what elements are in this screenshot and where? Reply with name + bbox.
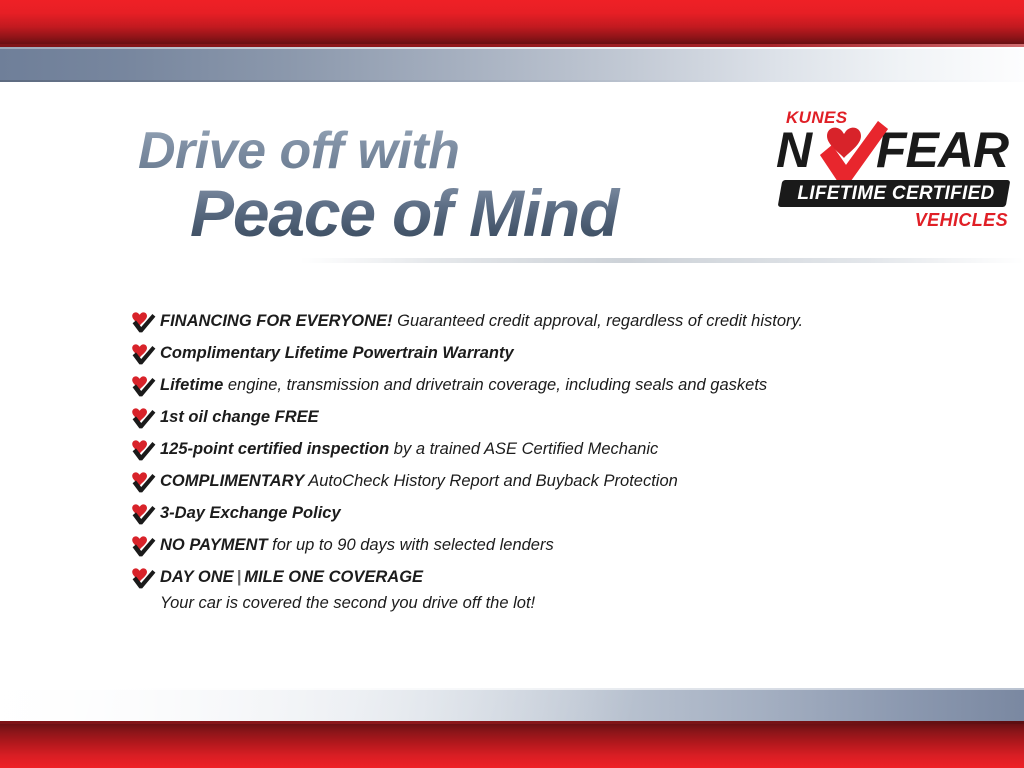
heart-check-icon [130,376,156,398]
logo-word-vehicles: VEHICLES [898,210,1008,231]
list-item-rest: engine, transmission and drivetrain cove… [223,376,767,394]
list-item: COMPLIMENTARY AutoCheck History Report a… [130,470,960,502]
list-item-text: 3-Day Exchange Policy [160,502,960,524]
list-item: 1st oil change FREE [130,406,960,438]
list-item: 125-point certified inspection by a trai… [130,438,960,470]
bottom-gray-band-sheen [0,688,1024,722]
bottom-gray-band-highlight [0,688,1024,690]
list-item-text: 125-point certified inspection by a trai… [160,438,960,460]
headline-divider [300,258,1024,263]
list-item: 3-Day Exchange Policy [130,502,960,534]
list-item: Complimentary Lifetime Powertrain Warran… [130,342,960,374]
promo-page: Drive off with Peace of Mind KUNES N FEA… [0,0,1024,768]
heart-check-icon [130,408,156,430]
heart-check-icon [130,312,156,334]
label-separator: | [234,568,245,586]
list-item-bold: COMPLIMENTARY [160,472,304,490]
list-item-rest: by a trained ASE Certified Mechanic [389,440,658,458]
heart-check-icon [130,536,156,558]
list-item-text: NO PAYMENT for up to 90 days with select… [160,534,960,556]
bottom-banner [0,688,1024,768]
list-item-bold: Lifetime [160,376,223,394]
red-checkmark-heart-icon [818,119,890,189]
list-item-rest: for up to 90 days with selected lenders [268,536,554,554]
mile-one-label: MILE ONE COVERAGE [244,568,423,586]
top-red-band [0,0,1024,46]
list-item-rest: AutoCheck History Report and Buyback Pro… [304,472,678,490]
heart-check-icon [130,504,156,526]
day-one-label: DAY ONE [160,568,234,586]
list-item-bold: FINANCING FOR EVERYONE! [160,312,393,330]
logo-nofear-row: N FEAR [772,125,1016,181]
list-item-bold: NO PAYMENT [160,536,268,554]
list-item: Lifetime engine, transmission and drivet… [130,374,960,406]
top-gray-band-highlight [0,47,1024,49]
heart-check-icon [130,344,156,366]
top-banner [0,0,1024,82]
benefits-list: FINANCING FOR EVERYONE! Guaranteed credi… [130,310,960,614]
list-item-text: 1st oil change FREE [160,406,960,428]
logo-word-fear: FEAR [876,125,1008,175]
list-item-bold: Complimentary Lifetime Powertrain Warran… [160,344,514,362]
logo-bar-label: LIFETIME CERTIFIED [784,182,1008,206]
list-item-bold: 3-Day Exchange Policy [160,504,341,522]
bottom-red-band [0,724,1024,768]
list-item: NO PAYMENT for up to 90 days with select… [130,534,960,566]
heart-check-icon [130,472,156,494]
logo-letter-n: N [776,125,811,175]
headline-line-1: Drive off with [138,125,738,177]
headline-line-2: Peace of Mind [190,179,738,248]
list-item-text: Complimentary Lifetime Powertrain Warran… [160,342,960,364]
list-item-rest: Guaranteed credit approval, regardless o… [393,312,804,330]
top-gray-band [0,47,1024,82]
list-item-text: Lifetime engine, transmission and drivet… [160,374,960,396]
top-gray-band-shadow [0,80,1024,82]
list-item-final: DAY ONE|MILE ONE COVERAGE [130,566,960,598]
list-item-bold: 1st oil change FREE [160,408,319,426]
list-item: FINANCING FOR EVERYONE! Guaranteed credi… [130,310,960,342]
list-item-bold: 125-point certified inspection [160,440,389,458]
headline-block: Drive off with Peace of Mind [138,125,738,248]
heart-check-icon [130,440,156,462]
list-item-text: DAY ONE|MILE ONE COVERAGE [160,566,960,588]
heart-check-icon [130,568,156,590]
list-item-text: FINANCING FOR EVERYONE! Guaranteed credi… [160,310,960,332]
list-item-text: COMPLIMENTARY AutoCheck History Report a… [160,470,960,492]
kunes-no-fear-logo: KUNES N FEAR LIFETIME CERTIFIED VEHICLES [772,108,1016,240]
